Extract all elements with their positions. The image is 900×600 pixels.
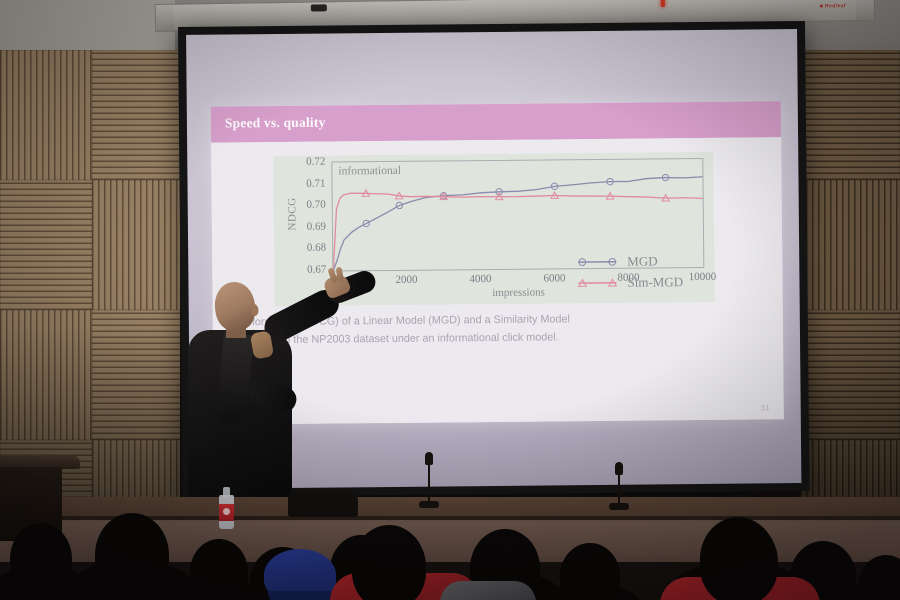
lecture-hall-photo: Redleaf Speed vs. quality NDCG 0.720.710… — [0, 0, 900, 600]
chart-y-tick: 0.68 — [290, 243, 326, 254]
audience-gray-jacket — [440, 581, 536, 600]
chart-x-tick: 2000 — [395, 274, 417, 286]
chart-legend-item: MGD — [574, 250, 704, 272]
chart-legend-label: MGD — [627, 253, 657, 269]
chart-legend-label: Sim-MGD — [627, 274, 683, 291]
acoustic-panel — [92, 310, 180, 440]
chart-y-ticks: 0.720.710.700.690.680.67 — [273, 152, 713, 156]
chart-y-tick: 0.72 — [289, 157, 325, 168]
audience-head — [700, 519, 778, 600]
housing-mount-bracket — [311, 4, 327, 11]
chart-legend-item: Sim-MGD — [574, 271, 704, 293]
audience-head — [858, 555, 900, 600]
audience-head — [95, 513, 169, 597]
acoustic-panel — [0, 180, 92, 310]
acoustic-panel — [92, 180, 180, 310]
chart-x-tick: 6000 — [543, 272, 565, 284]
acoustic-panel — [92, 50, 180, 180]
audience-head — [352, 525, 426, 600]
audience-head — [190, 539, 248, 600]
chart-x-tick: 4000 — [469, 273, 491, 285]
chart-y-tick: 0.70 — [290, 200, 326, 211]
slide-page-number: 31 — [761, 403, 770, 412]
audience-blue-cap-brim — [268, 591, 334, 600]
acoustic-panel — [800, 180, 900, 310]
chart-y-tick: 0.71 — [289, 178, 325, 189]
acoustic-wall-right — [800, 50, 900, 550]
audience-head — [10, 523, 72, 595]
slide-title: Speed vs. quality — [225, 115, 326, 132]
presenter — [180, 272, 370, 517]
chart-legend-swatch — [574, 275, 620, 289]
microphone-left-head — [425, 452, 433, 465]
chart-y-tick: 0.69 — [290, 221, 326, 232]
chart-annotation: informational — [338, 165, 401, 178]
acoustic-panel — [800, 310, 900, 440]
presenter-ear — [250, 304, 259, 317]
chart-legend: MGDSim-MGD — [574, 250, 704, 293]
acoustic-panel — [800, 50, 900, 180]
acoustic-panel — [0, 310, 92, 440]
chart-x-ticks: 0200040006000800010000 — [273, 152, 713, 156]
audience-head — [560, 543, 620, 600]
audience — [0, 495, 900, 600]
microphone-right-head — [615, 462, 623, 475]
housing-end-cap-right — [856, 0, 874, 20]
chart-legend-swatch — [574, 254, 620, 268]
housing-end-cap-left — [156, 5, 174, 31]
screen-brand-text: Redleaf — [825, 3, 846, 9]
acoustic-panel — [0, 50, 92, 180]
screen-brand-label: Redleaf — [820, 3, 846, 9]
presenter-head — [213, 280, 258, 333]
housing-indicator-led — [661, 0, 665, 7]
